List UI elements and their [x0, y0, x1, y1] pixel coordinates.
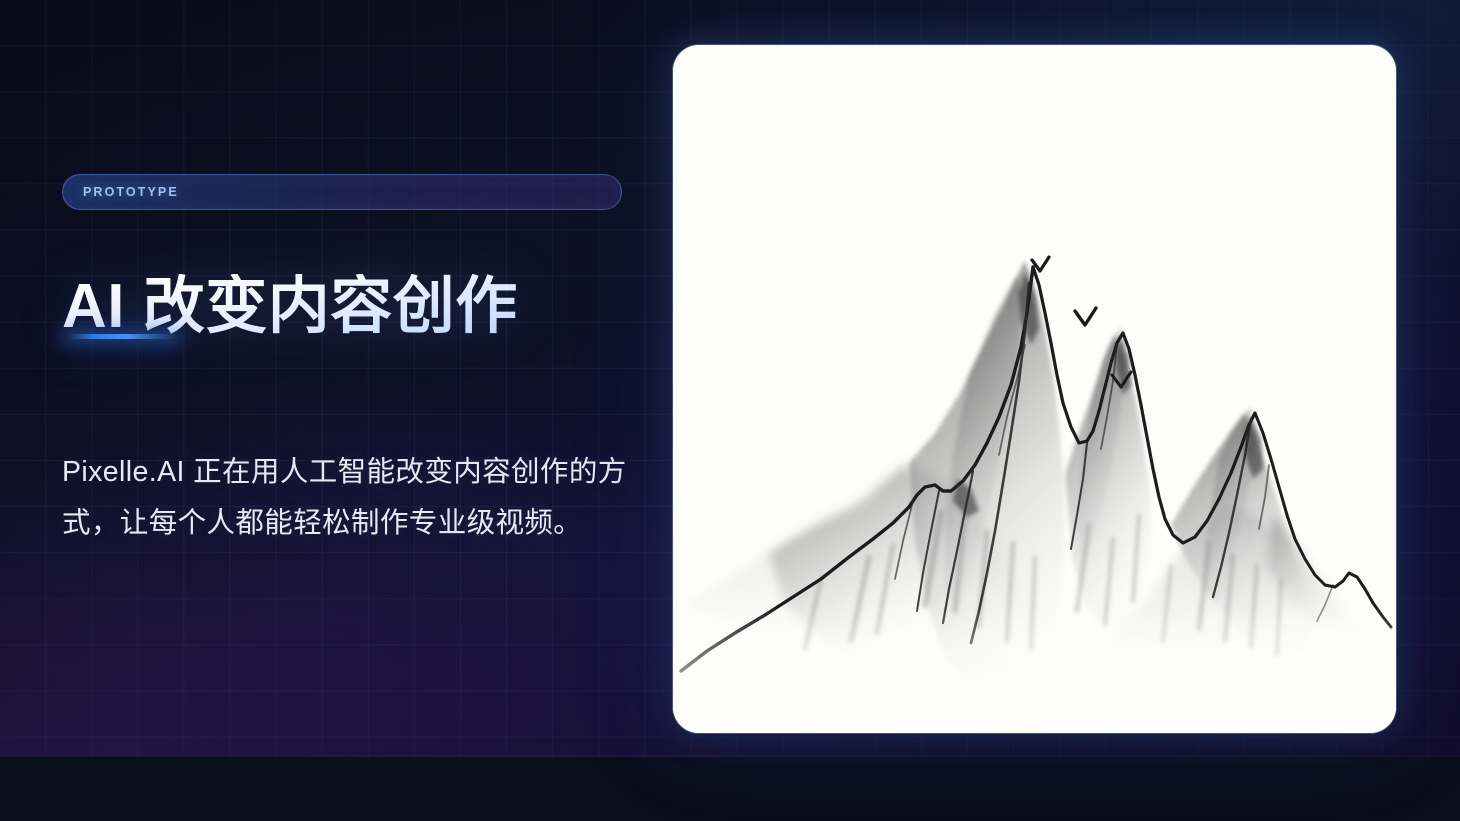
body-paragraph: Pixelle.AI 正在用人工智能改变内容创作的方式，让每个人都能轻松制作专业… [62, 447, 630, 551]
page-title: AI 改变内容创作 [62, 274, 518, 341]
prototype-badge-label: PROTOTYPE [83, 185, 179, 199]
page-title-latin: AI [62, 272, 125, 341]
slide-root: PROTOTYPE AI 改变内容创作 Pixelle.AI 正在用人工智能改变… [0, 0, 1460, 821]
left-content-column: PROTOTYPE AI 改变内容创作 Pixelle.AI 正在用人工智能改变… [62, 0, 637, 757]
footer-band [0, 757, 1460, 821]
page-title-cjk: 改变内容创作 [125, 272, 518, 341]
ink-wash-mountain-illustration [673, 45, 1396, 733]
title-underline-accent [64, 334, 178, 339]
prototype-badge: PROTOTYPE [62, 174, 622, 210]
illustration-card [673, 45, 1396, 733]
